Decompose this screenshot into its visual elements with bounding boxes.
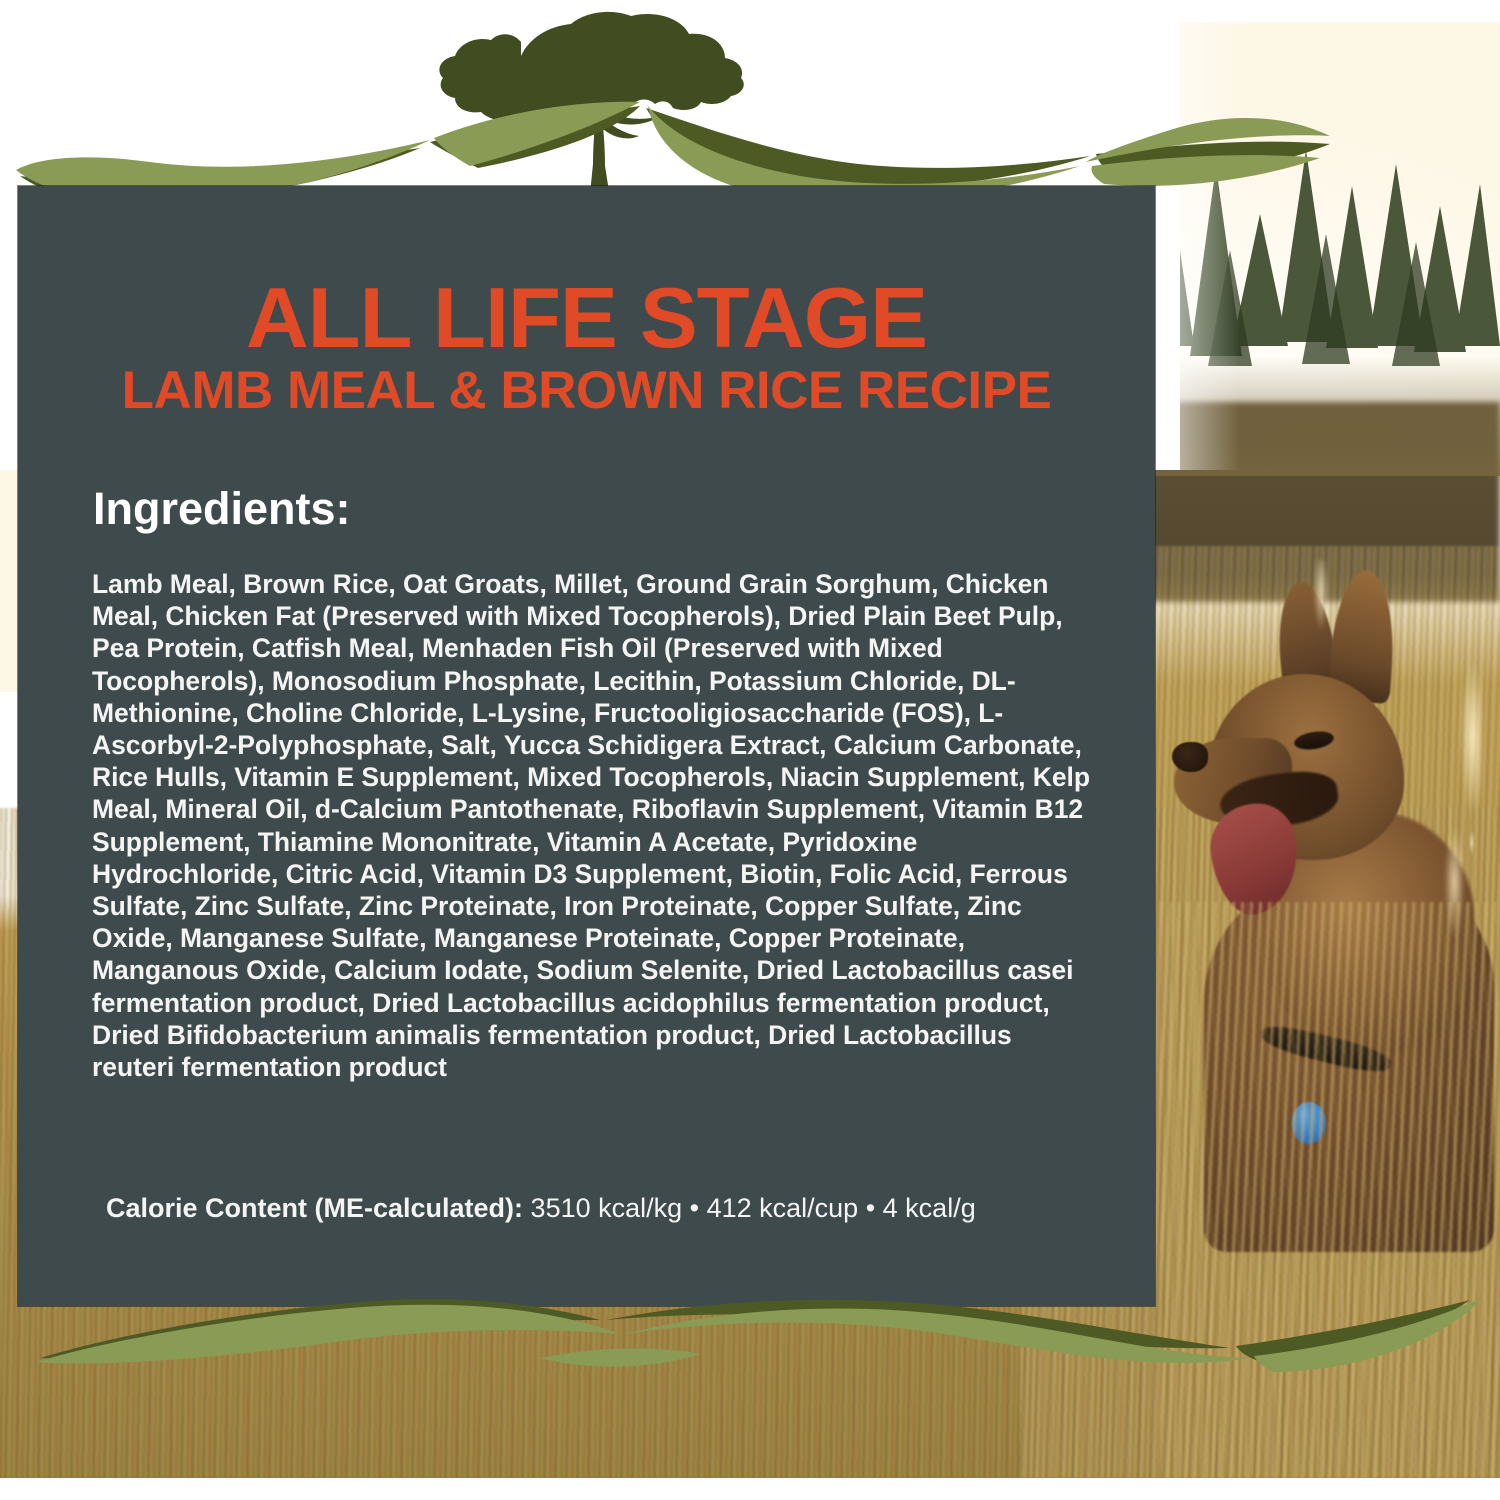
calorie-content-label: Calorie Content (ME-calculated): — [106, 1193, 523, 1223]
foreground-grass — [1160, 902, 1500, 1478]
acacia-tree-icon — [425, 4, 755, 209]
page-subtitle: LAMB MEAL & BROWN RICE RECIPE — [18, 364, 1155, 417]
dog-nose — [1172, 742, 1208, 772]
title-block: ALL LIFE STAGE LAMB MEAL & BROWN RICE RE… — [18, 278, 1155, 417]
page-title: ALL LIFE STAGE — [7, 278, 1167, 360]
calorie-content-value: 3510 kcal/kg • 412 kcal/cup • 4 kcal/g — [523, 1193, 976, 1223]
product-label-graphic: ALL LIFE STAGE LAMB MEAL & BROWN RICE RE… — [0, 0, 1500, 1500]
calorie-content-row: Calorie Content (ME-calculated): 3510 kc… — [106, 1192, 1126, 1224]
ingredients-heading: Ingredients: — [93, 486, 351, 531]
acacia-tree-logo — [425, 4, 755, 209]
ingredients-list: Lamb Meal, Brown Rice, Oat Groats, Mille… — [92, 568, 1092, 1083]
bottom-white-margin — [0, 1478, 1500, 1500]
ingredient-panel: ALL LIFE STAGE LAMB MEAL & BROWN RICE RE… — [18, 186, 1155, 1306]
